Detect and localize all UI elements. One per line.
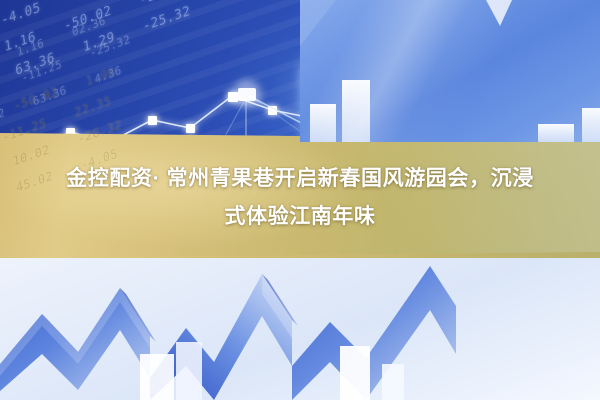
bar-column-icon xyxy=(176,342,202,400)
lower-graphic-area xyxy=(0,258,600,400)
lower-right-shine xyxy=(300,0,600,142)
arrow-ribbon-group xyxy=(0,258,600,400)
bar-column-group xyxy=(140,342,404,400)
headline-line-1: 金控配资· 常州青果巷开启新春国风游园会，沉浸 xyxy=(0,160,600,198)
page-title: 金控配资· 常州青果巷开启新春国风游园会，沉浸 式体验江南年味 xyxy=(0,160,600,236)
bar-column-icon xyxy=(382,364,404,400)
up-arrow-ribbon-icon xyxy=(292,266,456,400)
headline-line-2: 式体验江南年味 xyxy=(0,198,600,236)
banner-image: 21.02 45.02 4.36 1.96 -02.36 -11.25 -50.… xyxy=(0,0,600,400)
bar-column-icon xyxy=(140,354,174,400)
bar-column-icon xyxy=(340,346,370,400)
